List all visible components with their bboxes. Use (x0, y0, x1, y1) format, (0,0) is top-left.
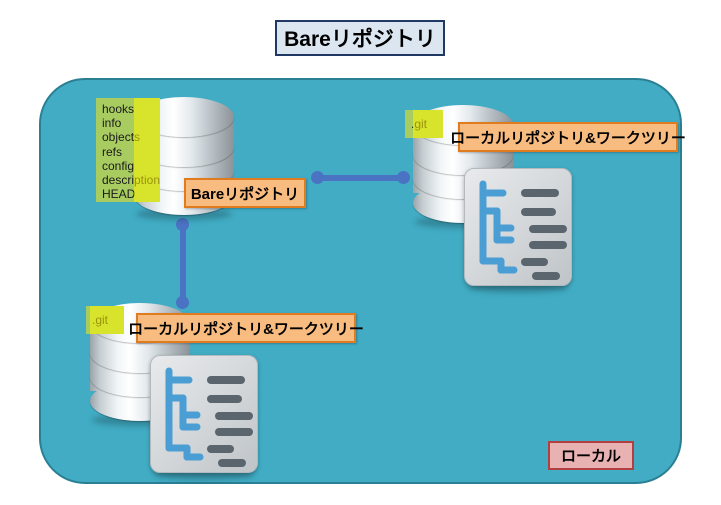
connector-dot-local-top-left (397, 171, 410, 184)
page-title-text: Bareリポジトリ (284, 23, 436, 53)
local-top-label: ローカルリポジトリ&ワークツリー (458, 122, 678, 152)
local-top-worktree-icon (464, 168, 572, 286)
local-environment-badge-text: ローカル (561, 445, 621, 466)
page-title: Bareリポジトリ (275, 20, 445, 56)
dir-entry-info: info (102, 116, 160, 130)
bare-repo-label: Bareリポジトリ (184, 178, 306, 208)
bare-repo-label-text: Bareリポジトリ (191, 183, 299, 204)
dir-entry-refs: refs (102, 145, 160, 159)
local-bottom-label-text: ローカルリポジトリ&ワークツリー (128, 318, 364, 339)
dir-entry-objects: objects (102, 130, 160, 144)
local-bottom-worktree-icon (150, 355, 258, 473)
dir-entry-head: HEAD (102, 187, 160, 201)
local-bottom-git-tag: .git (86, 306, 124, 334)
local-top-label-text: ローカルリポジトリ&ワークツリー (450, 127, 686, 148)
dir-entry-hooks: hooks (102, 102, 160, 116)
local-top-git-tag: .git (405, 110, 443, 138)
bare-repo-directory-list: hooks info objects refs config descripti… (96, 98, 160, 202)
local-top-git-tag-text: .git (411, 117, 427, 131)
connector-bare-to-local-bottom (180, 225, 186, 303)
dir-entry-description: description (102, 173, 160, 187)
connector-bare-to-local-top (318, 175, 404, 181)
local-bottom-git-tag-text: .git (92, 313, 108, 327)
dir-entry-config: config (102, 159, 160, 173)
connector-dot-bare-right (311, 171, 324, 184)
local-environment-badge: ローカル (548, 441, 634, 470)
local-bottom-label: ローカルリポジトリ&ワークツリー (136, 313, 356, 343)
